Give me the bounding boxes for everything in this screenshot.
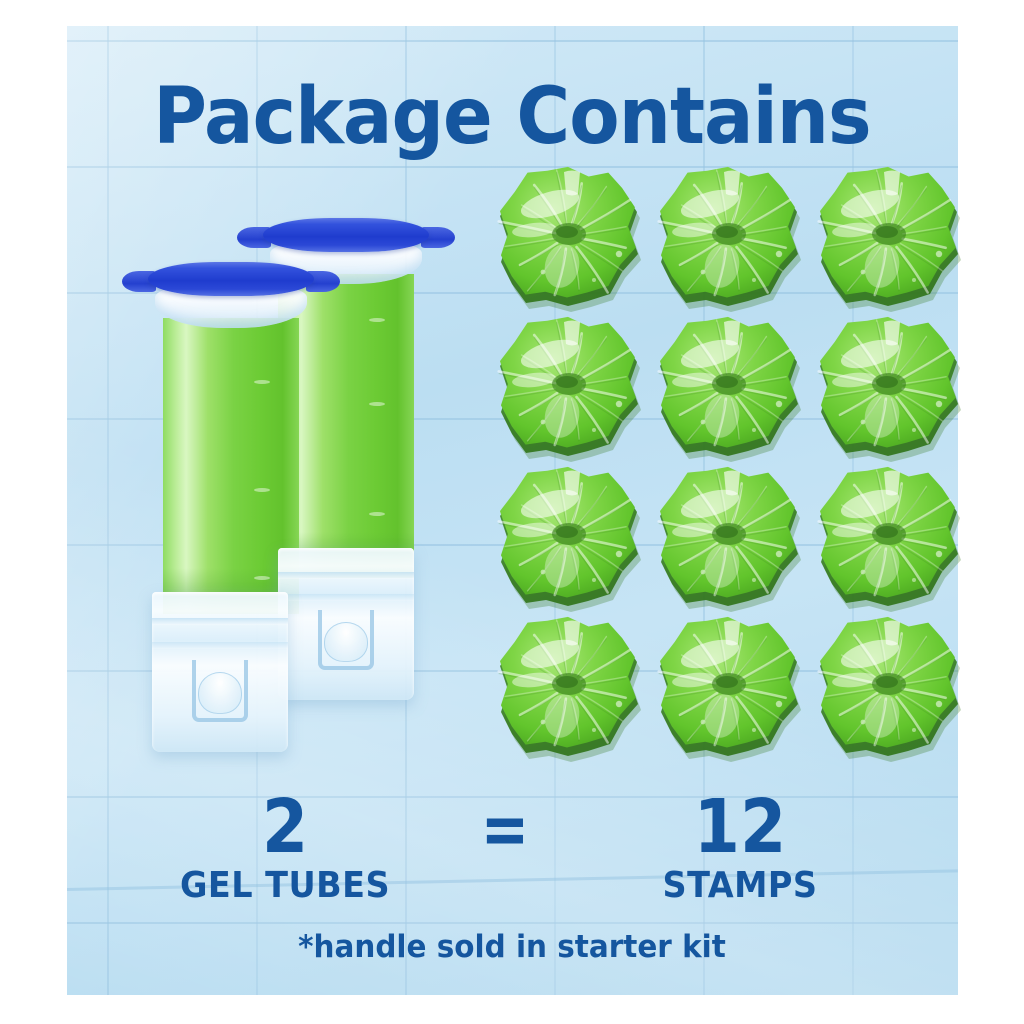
- gel-stamp: [658, 468, 800, 608]
- gel-stamps-grid: [498, 168, 960, 768]
- gel-stamp: [658, 618, 800, 758]
- gel-tubes-count: 2: [204, 790, 366, 864]
- nozzle-dome-icon: [324, 622, 368, 662]
- tube-ridge-icon: [254, 576, 270, 580]
- tube-ridge-icon: [254, 380, 270, 384]
- tube-base-band: [152, 642, 288, 649]
- gel-stamp: [498, 618, 640, 758]
- gel-stamp: [498, 168, 640, 308]
- gel-tube-front-base: [152, 592, 288, 752]
- gel-tube-back-base: [278, 548, 414, 700]
- equals-sign: =: [471, 792, 538, 866]
- nozzle-dome-icon: [198, 672, 242, 714]
- tube-cap-front: [148, 262, 314, 296]
- stamps-count: 12: [659, 790, 821, 864]
- package-contains-infographic: Package Contains: [0, 0, 1024, 1024]
- gel-stamp: [818, 618, 960, 758]
- gel-tubes-label: GEL TUBES: [155, 868, 415, 904]
- gel-stamp: [658, 318, 800, 458]
- tube-ridge-icon: [254, 488, 270, 492]
- gel-stamp: [498, 318, 640, 458]
- tube-ridge-icon: [369, 512, 385, 516]
- tube-base-back: [278, 548, 414, 700]
- tube-base-band: [278, 594, 414, 601]
- stamps-label: STAMPS: [628, 868, 851, 904]
- gel-stamp: [658, 168, 800, 308]
- tube-ridge-icon: [369, 402, 385, 406]
- tube-base-band: [278, 572, 414, 579]
- footnote-text: *handle sold in starter kit: [26, 932, 999, 963]
- gel-stamp: [818, 318, 960, 458]
- tube-base-band: [152, 618, 288, 625]
- tube-cap-back: [263, 218, 429, 252]
- gel-stamp: [818, 468, 960, 608]
- dispenser-nozzle-icon: [318, 610, 374, 670]
- gel-stamp: [498, 468, 640, 608]
- tube-ridge-icon: [369, 318, 385, 322]
- tube-base-front: [152, 592, 288, 752]
- gel-stamp: [818, 168, 960, 308]
- dispenser-nozzle-icon: [192, 660, 248, 722]
- page-title: Package Contains: [31, 78, 994, 156]
